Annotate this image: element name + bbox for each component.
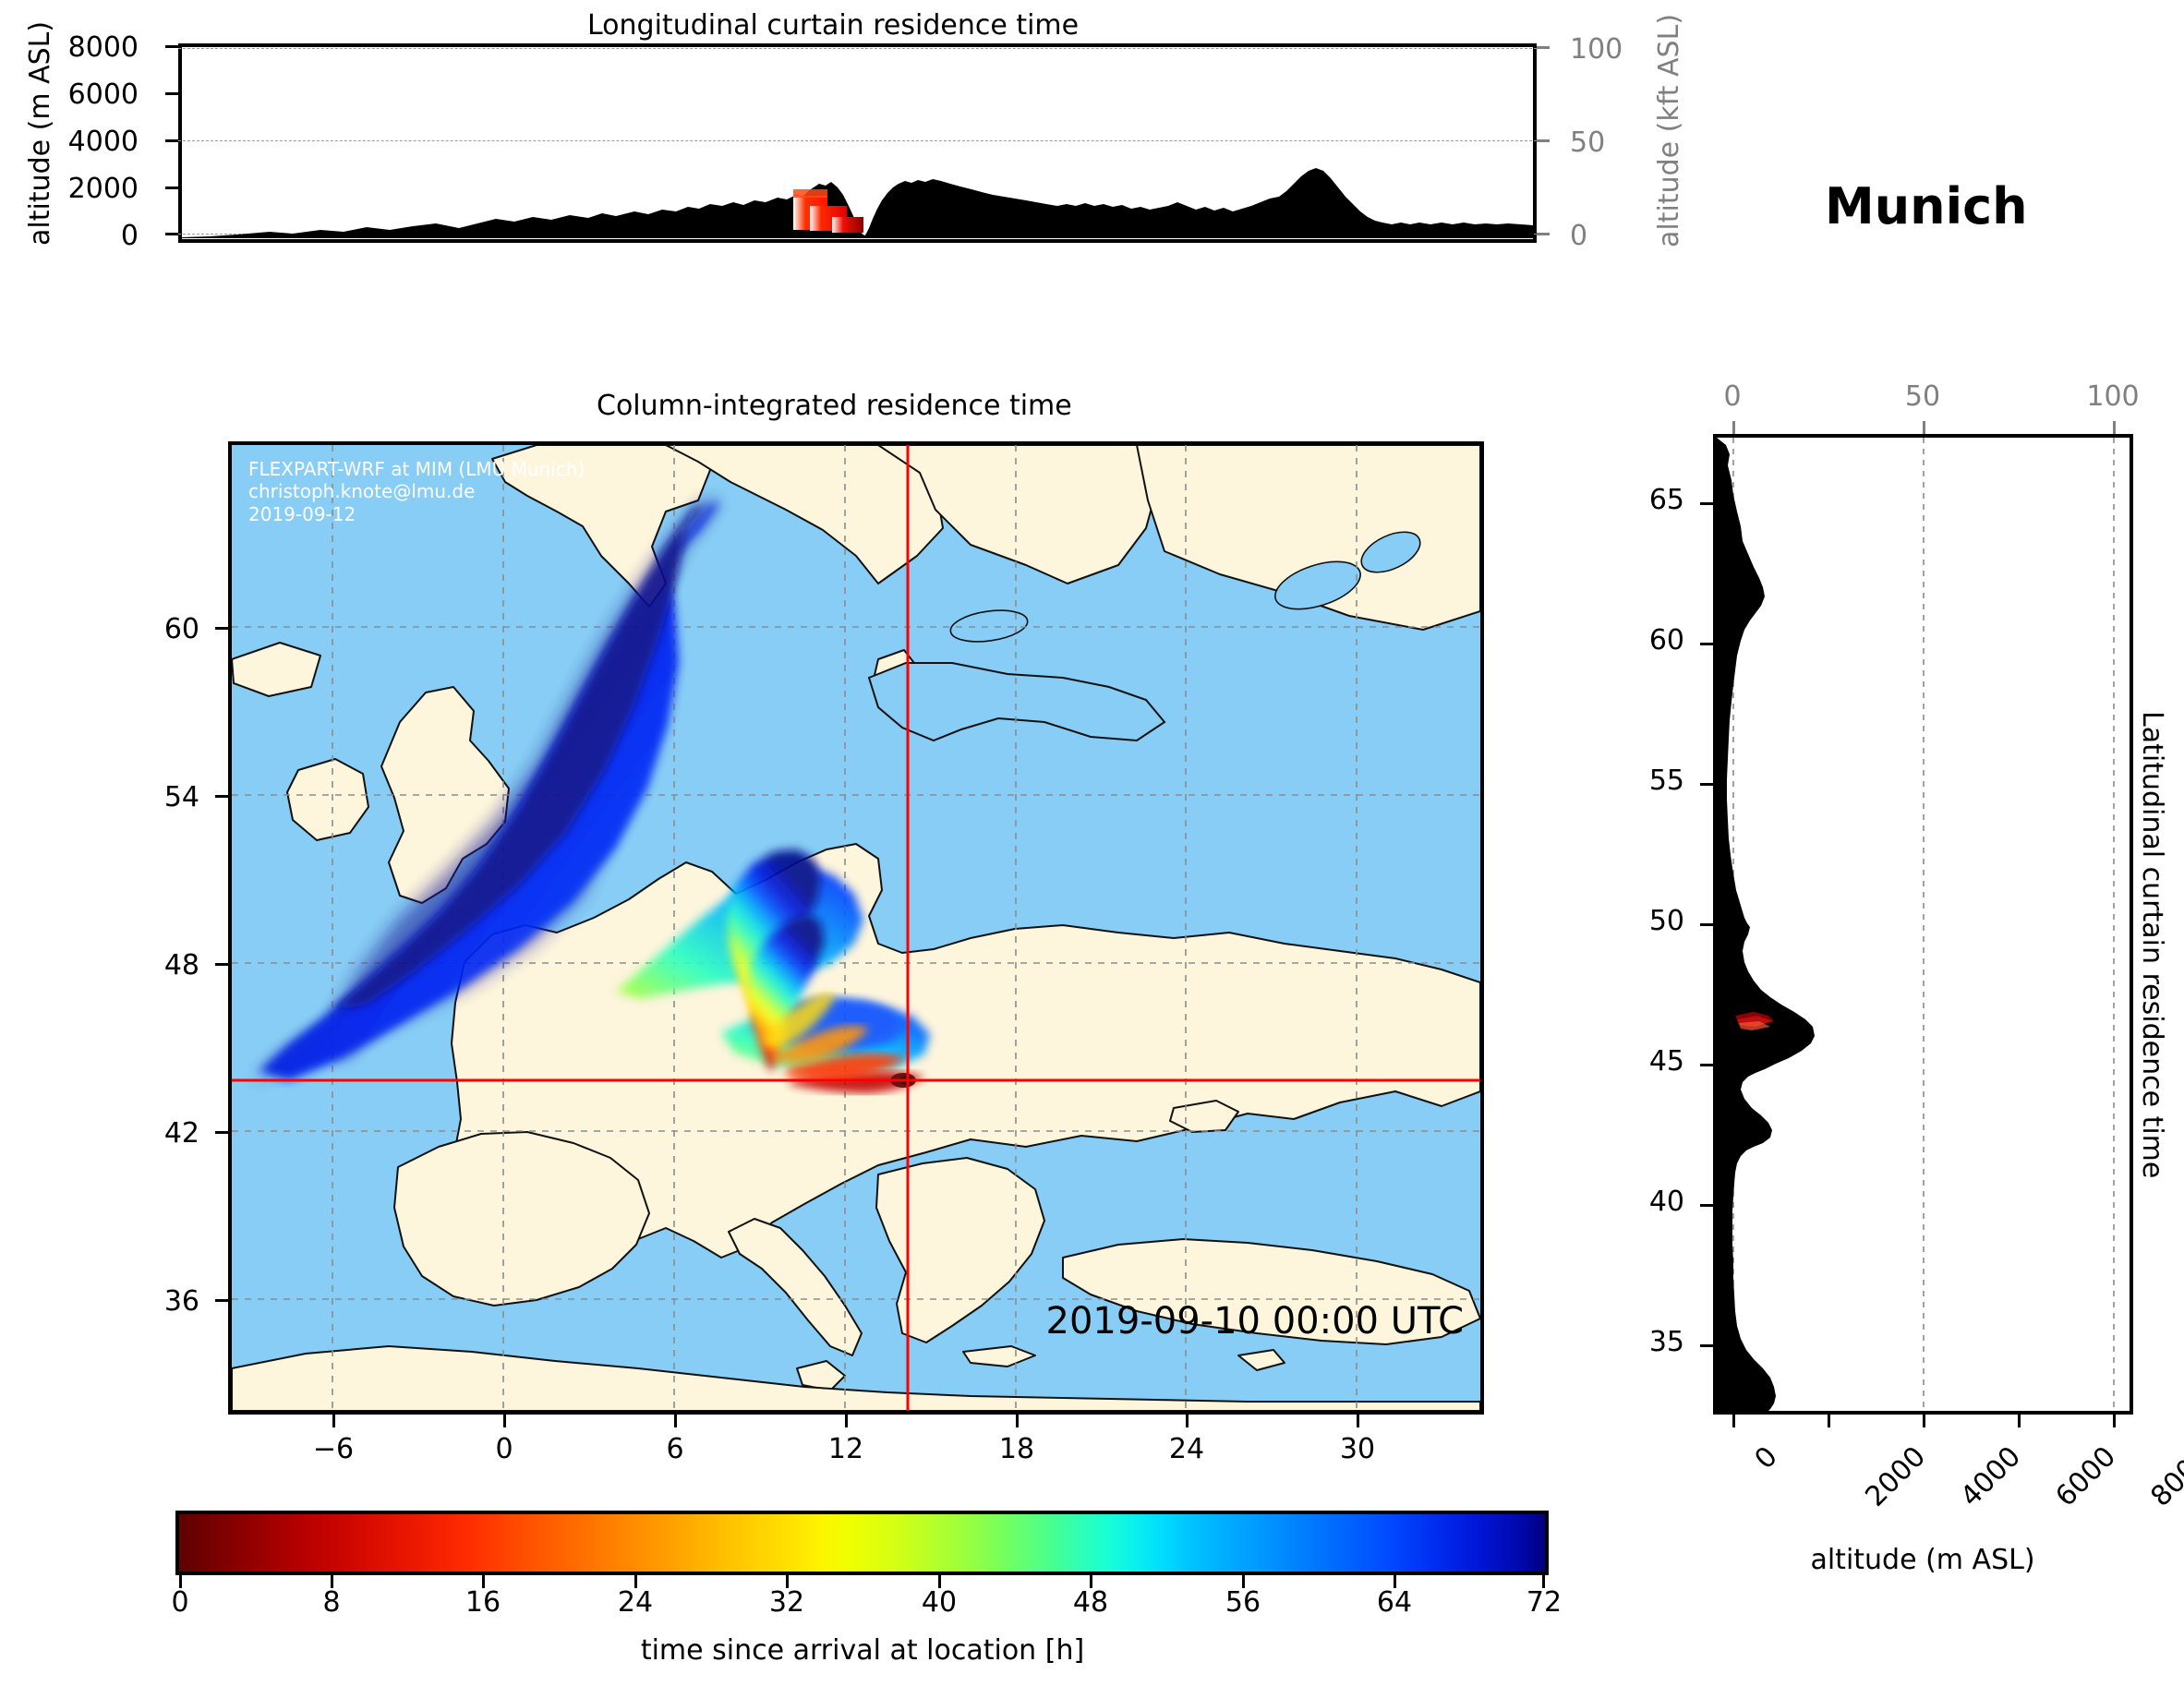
map-xtick-label-24: 24 <box>1169 1433 1204 1465</box>
top-ytick-kft-label-100: 100 <box>1570 33 1623 66</box>
cbar-tick-label-16: 16 <box>465 1586 501 1619</box>
right-ytick-label-45: 45 <box>1649 1045 1684 1078</box>
right-xtick-label-4000: 4000 <box>1954 1440 2027 1513</box>
top-tick-2000 <box>165 187 178 189</box>
map-attribution: FLEXPART-WRF at MIM (LMU Munich) christo… <box>248 458 585 525</box>
right-xtick-label-0: 0 <box>1749 1440 1784 1475</box>
map-xtick-label-6: 6 <box>666 1433 683 1465</box>
map-xtick-24 <box>1186 1415 1189 1427</box>
right-ytick-label-35: 35 <box>1649 1326 1684 1358</box>
right-xtick-2000 <box>1828 1415 1830 1427</box>
map-xtick-label-m6: −6 <box>313 1433 354 1465</box>
map-timestamp: 2019-09-10 00:00 UTC <box>1046 1300 1464 1343</box>
map-xtick-30 <box>1357 1415 1359 1427</box>
map-xtick-0 <box>503 1415 506 1427</box>
top-ytick-label-6000: 6000 <box>68 78 139 111</box>
cbar-tick-label-72: 72 <box>1526 1586 1562 1619</box>
map-ytick-label-42: 42 <box>164 1117 199 1150</box>
map-ytick-label-54: 54 <box>164 781 199 813</box>
right-ytick-45 <box>1700 1064 1713 1066</box>
right-xtick-label-6000: 6000 <box>2049 1440 2122 1513</box>
right-xtick-label-2000: 2000 <box>1859 1440 1932 1513</box>
right-ytick-35 <box>1700 1344 1713 1347</box>
top-panel-plot <box>182 47 1533 239</box>
right-panel-xlabel: altitude (m ASL) <box>1810 1544 2034 1576</box>
top-tick-8000 <box>165 45 178 48</box>
right-xtick-4000 <box>1923 1415 1925 1427</box>
map-ytick-label-36: 36 <box>164 1285 199 1318</box>
right-panel <box>1713 434 2133 1415</box>
top-ytick-label-8000: 8000 <box>68 31 139 64</box>
map-xtick-label-0: 0 <box>495 1433 513 1465</box>
right-ytick-label-65: 65 <box>1649 484 1684 516</box>
cbar-tick-label-56: 56 <box>1225 1586 1261 1619</box>
top-ytick-kft-label-0: 0 <box>1570 220 1587 252</box>
location-title: Munich <box>1825 177 2028 235</box>
cbar-tick-label-0: 0 <box>171 1586 188 1619</box>
colorbar-gradient <box>175 1511 1549 1575</box>
top-tick-kft-0 <box>1537 233 1550 235</box>
top-ytick-label-4000: 4000 <box>68 126 139 158</box>
map-ytick-42 <box>215 1131 228 1134</box>
cbar-tick-label-40: 40 <box>922 1586 957 1619</box>
top-panel <box>178 43 1537 243</box>
cbar-tick-label-64: 64 <box>1377 1586 1412 1619</box>
cbar-tick-label-8: 8 <box>322 1586 340 1619</box>
right-panel-plot <box>1717 438 2130 1411</box>
map-xtick-18 <box>1016 1415 1019 1427</box>
right-ytick-60 <box>1700 643 1713 645</box>
cbar-tick-label-32: 32 <box>769 1586 804 1619</box>
right-ytick-55 <box>1700 783 1713 786</box>
right-ytick-65 <box>1700 502 1713 505</box>
right-panel-ylabel: Latitudinal curtain residence time <box>2136 711 2168 1178</box>
right-xtick-label-8000: 8000 <box>2144 1440 2184 1513</box>
map-xtick-6 <box>674 1415 677 1427</box>
cbar-tick-label-24: 24 <box>618 1586 653 1619</box>
right-ytick-label-60: 60 <box>1649 624 1684 656</box>
map-xtick-label-12: 12 <box>828 1433 863 1465</box>
map-ytick-60 <box>215 627 228 630</box>
map-xtick-label-30: 30 <box>1340 1433 1375 1465</box>
right-ytick-label-50: 50 <box>1649 905 1684 937</box>
right-xtick-kft-0 <box>1732 421 1735 434</box>
right-ytick-label-40: 40 <box>1649 1186 1684 1218</box>
top-tick-kft-100 <box>1537 46 1550 49</box>
map-xtick-label-18: 18 <box>999 1433 1034 1465</box>
top-ytick-kft-label-50: 50 <box>1570 126 1605 159</box>
right-xtick-kft-label-50: 50 <box>1905 380 1940 413</box>
map-ytick-48 <box>215 963 228 966</box>
right-xtick-kft-label-0: 0 <box>1723 380 1741 413</box>
map-ytick-54 <box>215 795 228 798</box>
right-xtick-8000 <box>2113 1415 2116 1427</box>
top-panel-ylabel-right: altitude (kft ASL) <box>1653 14 1685 247</box>
map-xtick-12 <box>845 1415 848 1427</box>
colorbar-label: time since arrival at location [h] <box>641 1634 1084 1667</box>
top-panel-ylabel-left: altitude (m ASL) <box>24 21 56 246</box>
top-tick-kft-50 <box>1537 139 1550 142</box>
top-tick-6000 <box>165 92 178 95</box>
map-ytick-36 <box>215 1299 228 1302</box>
right-xtick-0 <box>1732 1415 1735 1427</box>
map-plot <box>232 445 1480 1411</box>
map-ytick-label-60: 60 <box>164 613 199 645</box>
top-ytick-label-2000: 2000 <box>68 173 139 205</box>
map-panel: FLEXPART-WRF at MIM (LMU Munich) christo… <box>228 441 1484 1415</box>
right-ytick-40 <box>1700 1204 1713 1207</box>
colorbar <box>175 1511 1549 1575</box>
top-tick-4000 <box>165 139 178 142</box>
right-xtick-6000 <box>2018 1415 2021 1427</box>
cbar-tick-label-48: 48 <box>1073 1586 1108 1619</box>
right-xtick-kft-label-100: 100 <box>2086 380 2139 413</box>
map-ytick-label-48: 48 <box>164 949 199 981</box>
map-panel-title: Column-integrated residence time <box>597 390 1072 422</box>
right-ytick-label-55: 55 <box>1649 765 1684 797</box>
right-ytick-50 <box>1700 923 1713 926</box>
top-panel-title: Longitudinal curtain residence time <box>587 9 1079 42</box>
right-xtick-kft-100 <box>2113 421 2116 434</box>
right-xtick-kft-50 <box>1923 421 1925 434</box>
top-ytick-label-0: 0 <box>121 220 139 252</box>
top-tick-0 <box>165 233 178 235</box>
map-xtick-m6 <box>332 1415 335 1427</box>
